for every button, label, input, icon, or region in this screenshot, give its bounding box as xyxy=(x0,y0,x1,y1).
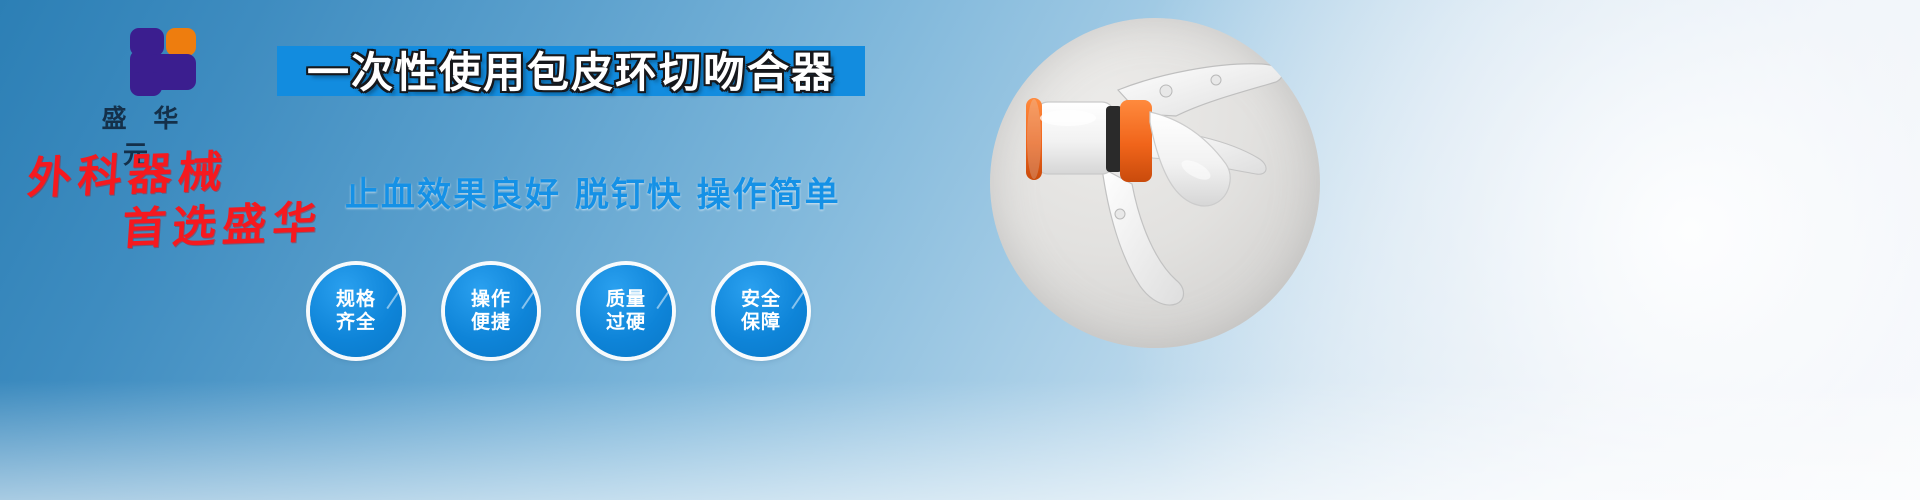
feature-2-line-2: 便捷 xyxy=(471,311,511,334)
feature-circle-4[interactable]: 安全 保障 xyxy=(715,265,807,357)
feature-2-line-1: 操作 xyxy=(471,288,511,311)
stapler-illustration-icon xyxy=(990,18,1320,348)
feature-1-line-2: 齐全 xyxy=(336,311,376,334)
calligraphy-line-2: 首选盛华 xyxy=(16,200,350,255)
feature-circle-list: 规格 齐全 操作 便捷 质量 过硬 安全 保障 xyxy=(310,265,807,357)
feature-circle-2[interactable]: 操作 便捷 xyxy=(445,265,537,357)
main-title-box: 一次性使用包皮环切吻合器 xyxy=(277,46,865,96)
promotional-banner: 盛 华 元 外科器械 首选盛华 一次性使用包皮环切吻合器 止血效果良好 脱钉快 … xyxy=(0,0,1920,500)
calligraphy-line-1: 外科器械 xyxy=(20,146,354,201)
main-title-text: 一次性使用包皮环切吻合器 xyxy=(307,52,835,94)
feature-4-line-1: 安全 xyxy=(741,288,781,311)
feature-1-line-1: 规格 xyxy=(336,288,376,311)
feature-circle-1[interactable]: 规格 齐全 xyxy=(310,265,402,357)
feature-3-line-2: 过硬 xyxy=(606,311,646,334)
product-photo xyxy=(990,18,1320,348)
calligraphy-slogan: 外科器械 首选盛华 xyxy=(16,146,354,255)
feature-circle-3[interactable]: 质量 过硬 xyxy=(580,265,672,357)
feature-4-line-2: 保障 xyxy=(741,311,781,334)
subtitle-text: 止血效果良好 脱钉快 操作简单 xyxy=(345,167,841,216)
feature-3-line-1: 质量 xyxy=(606,288,646,311)
logo-mark-icon xyxy=(104,28,176,92)
